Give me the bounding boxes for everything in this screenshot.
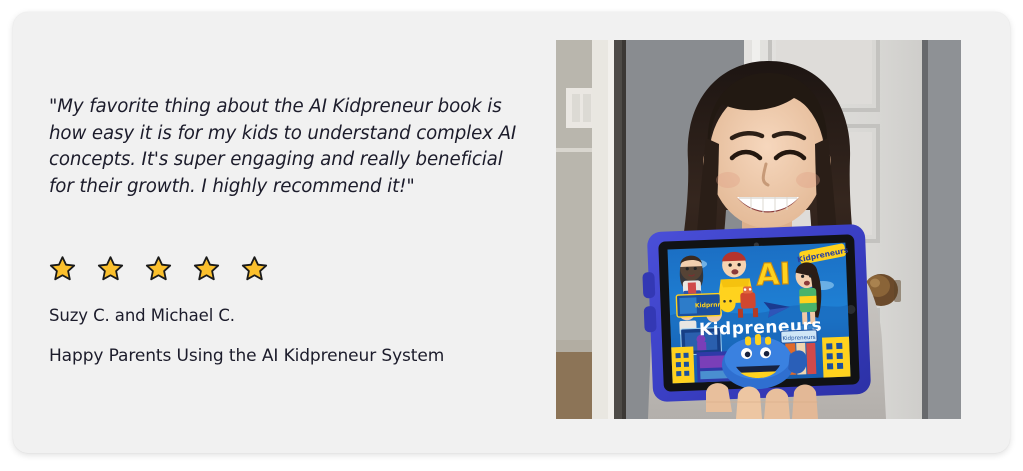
- testimonial-screenshot: "My favorite thing about the AI Kidprene…: [0, 0, 1023, 471]
- photo-illustration: AI Kidpreneurs: [556, 40, 961, 419]
- star-icon: [241, 255, 268, 282]
- star-icon: [145, 255, 172, 282]
- star-icon: [49, 255, 76, 282]
- reviewer-role: Happy Parents Using the AI Kidpreneur Sy…: [49, 345, 529, 367]
- testimonial-card: "My favorite thing about the AI Kidprene…: [13, 12, 1010, 453]
- star-icon: [193, 255, 220, 282]
- quote-column: "My favorite thing about the AI Kidprene…: [49, 94, 529, 200]
- testimonial-photo: AI Kidpreneurs: [556, 40, 961, 419]
- star-rating: [49, 255, 268, 282]
- svg-text:Kidpreneurs: Kidpreneurs: [782, 335, 815, 342]
- attribution: Suzy C. and Michael C. Happy Parents Usi…: [49, 305, 529, 367]
- reviewer-name: Suzy C. and Michael C.: [49, 305, 529, 327]
- svg-text:AI: AI: [756, 257, 792, 293]
- svg-text:Kidprnr: Kidprnr: [695, 301, 721, 309]
- testimonial-quote: "My favorite thing about the AI Kidprene…: [49, 94, 519, 200]
- star-icon: [97, 255, 124, 282]
